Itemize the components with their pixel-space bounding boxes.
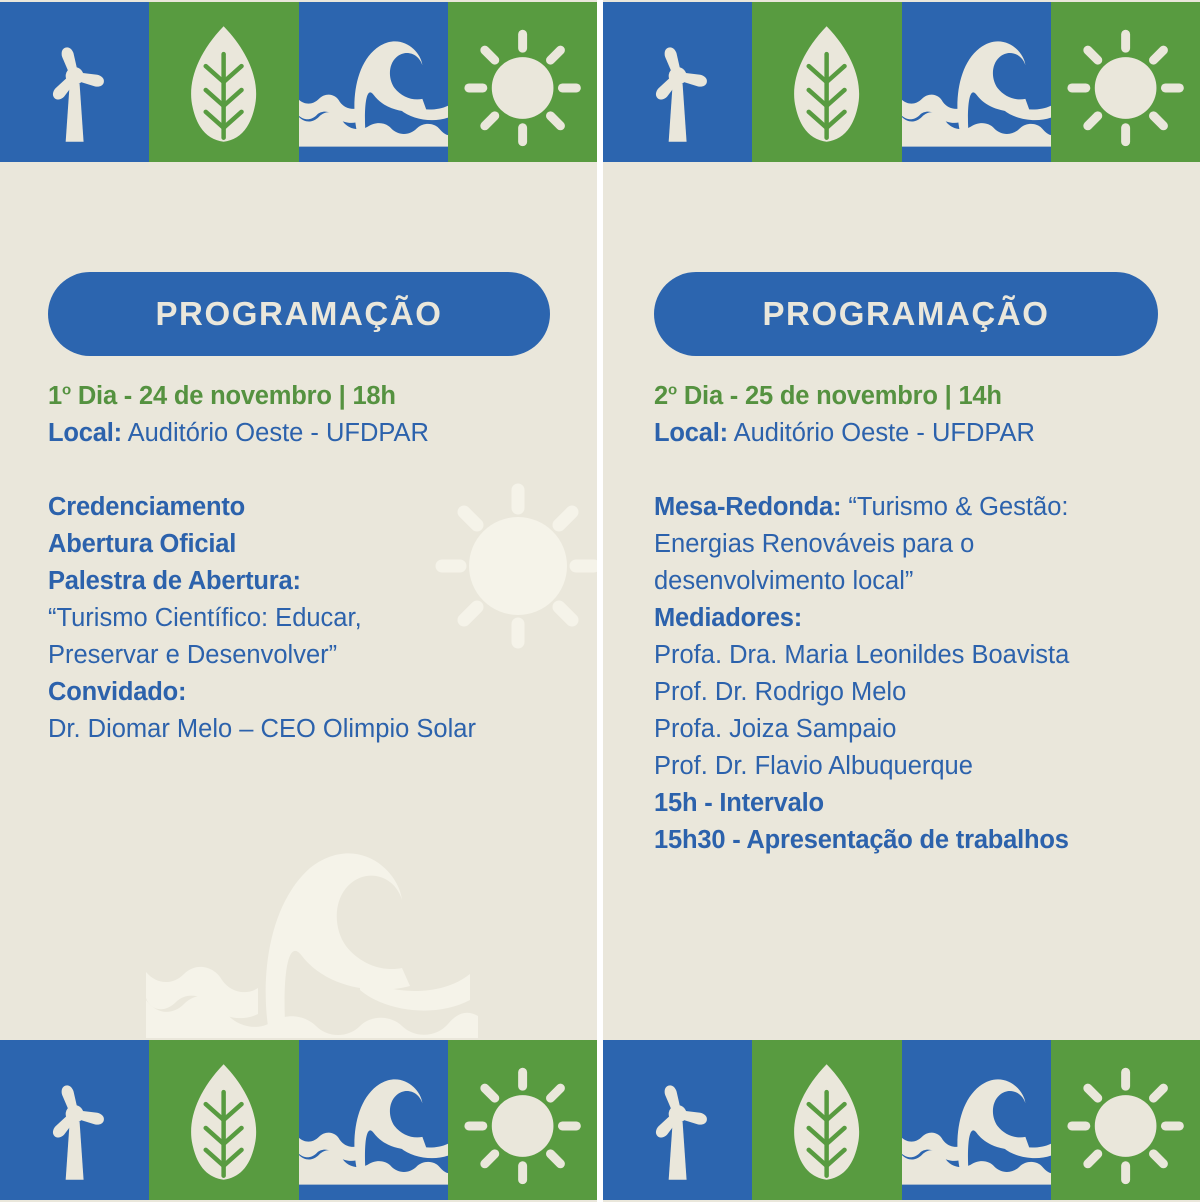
icon-band-top <box>0 2 597 162</box>
icon-tile-sun <box>1051 1040 1200 1200</box>
icon-tile-sun <box>448 2 597 162</box>
schedule-item: Profa. Joiza Sampaio <box>654 711 1194 748</box>
schedule-item: Profa. Dra. Maria Leonildes Boavista <box>654 637 1194 674</box>
schedule-item: Preservar e Desenvolver” <box>48 637 588 674</box>
spacer <box>48 452 588 489</box>
icon-tile-leaf <box>149 1040 298 1200</box>
schedule-item: Palestra de Abertura: <box>48 563 588 600</box>
schedule-item: Mesa-Redonda: “Turismo & Gestão: <box>654 489 1194 526</box>
icon-band-top <box>603 2 1200 162</box>
panel-day-2: PROGRAMAÇÃO 2o Dia - 25 de novembro | 14… <box>603 0 1200 1202</box>
pill-label: PROGRAMAÇÃO <box>155 295 442 333</box>
icon-tile-wave <box>902 2 1051 162</box>
schedule-content: 1o Dia - 24 de novembro | 18h Local: Aud… <box>48 378 588 748</box>
icon-tile-wind-turbine <box>603 2 752 162</box>
schedule-item: Prof. Dr. Rodrigo Melo <box>654 674 1194 711</box>
icon-tile-sun <box>448 1040 597 1200</box>
schedule-item: Mediadores: <box>654 600 1194 637</box>
icon-tile-wave <box>299 2 448 162</box>
local-line: Local: Auditório Oeste - UFDPAR <box>48 415 588 452</box>
icon-tile-wind-turbine <box>603 1040 752 1200</box>
schedule-item: “Turismo Científico: Educar, <box>48 600 588 637</box>
schedule-item: 15h - Intervalo <box>654 785 1194 822</box>
icon-tile-leaf <box>149 2 298 162</box>
programacao-pill: PROGRAMAÇÃO <box>48 272 550 356</box>
panel-day-1: PROGRAMAÇÃO 1o Dia - 24 de novembro | 18… <box>0 0 597 1202</box>
wave-watermark <box>110 838 510 1038</box>
schedule-item: Abertura Oficial <box>48 526 588 563</box>
schedule-item: desenvolvimento local” <box>654 563 1194 600</box>
icon-tile-wind-turbine <box>0 1040 149 1200</box>
icon-tile-leaf <box>752 2 901 162</box>
icon-tile-wave <box>299 1040 448 1200</box>
programacao-pill: PROGRAMAÇÃO <box>654 272 1158 356</box>
schedule-item: Credenciamento <box>48 489 588 526</box>
spacer <box>654 452 1194 489</box>
poster-root: PROGRAMAÇÃO 1o Dia - 24 de novembro | 18… <box>0 0 1200 1202</box>
icon-band-bottom <box>603 1040 1200 1200</box>
schedule-item: Convidado: <box>48 674 588 711</box>
schedule-item: Energias Renováveis para o <box>654 526 1194 563</box>
pill-label: PROGRAMAÇÃO <box>762 295 1049 333</box>
schedule-item: Prof. Dr. Flavio Albuquerque <box>654 748 1194 785</box>
icon-tile-wind-turbine <box>0 2 149 162</box>
icon-tile-leaf <box>752 1040 901 1200</box>
schedule-item: Dr. Diomar Melo – CEO Olimpio Solar <box>48 711 588 748</box>
local-line: Local: Auditório Oeste - UFDPAR <box>654 415 1194 452</box>
schedule-content: 2o Dia - 25 de novembro | 14h Local: Aud… <box>654 378 1194 859</box>
day-heading: 1o Dia - 24 de novembro | 18h <box>48 378 588 415</box>
icon-tile-sun <box>1051 2 1200 162</box>
icon-tile-wave <box>902 1040 1051 1200</box>
day-heading: 2o Dia - 25 de novembro | 14h <box>654 378 1194 415</box>
schedule-item: 15h30 - Apresentação de trabalhos <box>654 822 1194 859</box>
icon-band-bottom <box>0 1040 597 1200</box>
